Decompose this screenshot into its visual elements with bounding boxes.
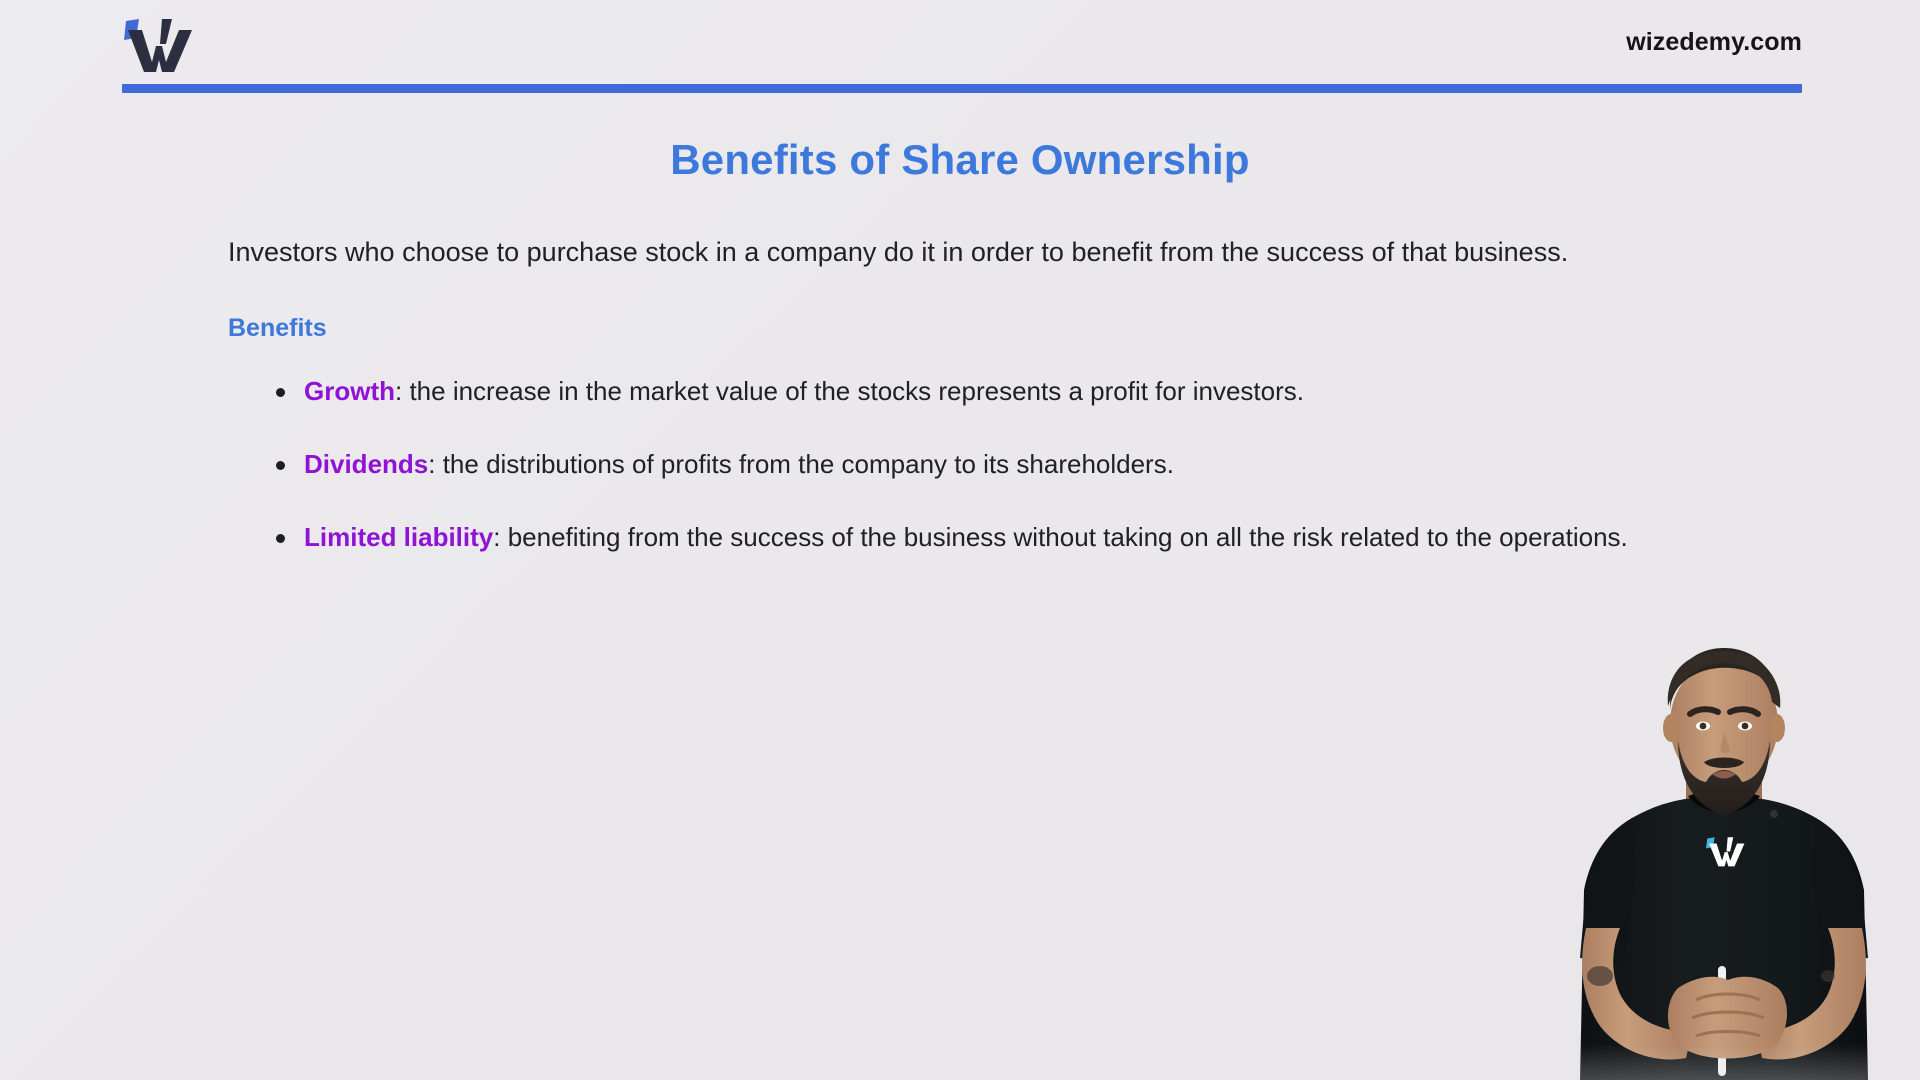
bullet-separator: : — [428, 449, 442, 479]
bullet-term: Dividends — [304, 449, 428, 479]
bullet-separator: : — [395, 376, 409, 406]
header-divider-rule — [122, 84, 1802, 93]
bullet-text: benefiting from the success of the busin… — [508, 522, 1628, 552]
slide-canvas: wizedemy.com Benefits of Share Ownership… — [0, 0, 1920, 1080]
bullet-separator: : — [493, 522, 507, 552]
slide-header: wizedemy.com — [0, 0, 1920, 96]
bullet-term: Limited liability — [304, 522, 493, 552]
list-item: Limited liability: benefiting from the s… — [276, 519, 1706, 556]
wizedemy-logo-icon — [122, 16, 204, 74]
slide-content: Benefits of Share Ownership Investors wh… — [0, 96, 1920, 592]
bullet-text: the distributions of profits from the co… — [443, 449, 1174, 479]
list-item: Dividends: the distributions of profits … — [276, 446, 1706, 483]
page-title: Benefits of Share Ownership — [0, 136, 1920, 184]
list-item: Growth: the increase in the market value… — [276, 373, 1706, 410]
brand-url-label: wizedemy.com — [1626, 28, 1802, 57]
intro-paragraph: Investors who choose to purchase stock i… — [228, 234, 1758, 270]
benefits-list: Growth: the increase in the market value… — [276, 373, 1706, 556]
bullet-term: Growth — [304, 376, 395, 406]
section-heading-benefits: Benefits — [228, 314, 1920, 343]
bullet-text: the increase in the market value of the … — [409, 376, 1304, 406]
presenter-video-overlay — [1528, 628, 1920, 1080]
